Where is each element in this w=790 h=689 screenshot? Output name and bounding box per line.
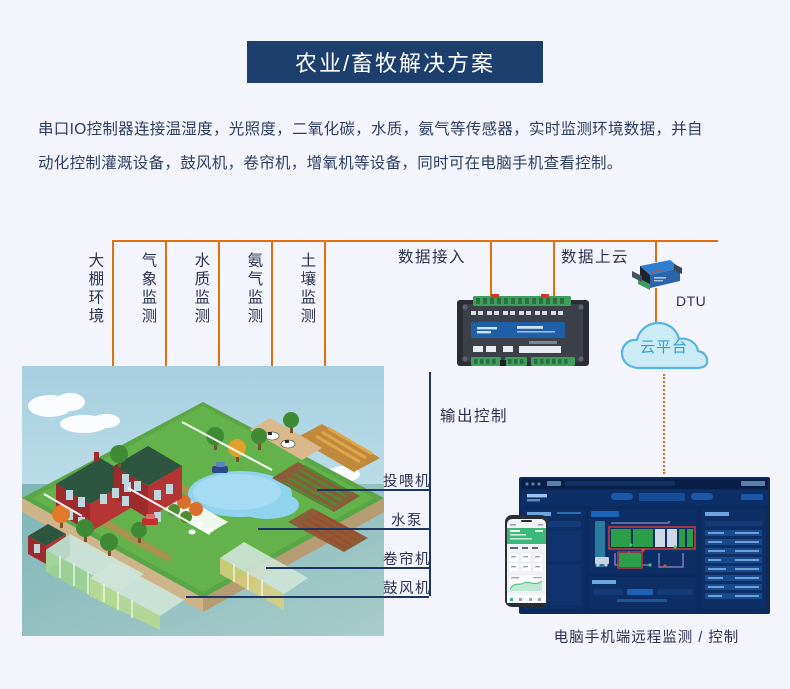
sensor-label-ammonia: 氨气监测: [245, 252, 262, 326]
output-label-roller-blind: 卷帘机: [383, 548, 431, 569]
page-title: 农业/畜牧解决方案: [295, 46, 495, 78]
sensor-label-soil: 土壤监测: [298, 252, 315, 326]
bus-drop-controller-left: [490, 240, 492, 297]
dtu-label: DTU: [676, 293, 706, 309]
dtu-device: [630, 258, 684, 294]
cloud-platform-label: 云平台: [618, 336, 710, 357]
monitor-caption: 电脑手机端远程监测 / 控制: [519, 626, 774, 647]
output-label-water-pump: 水泵: [391, 509, 423, 530]
label-data-to-cloud: 数据上云: [561, 245, 629, 267]
desktop-dashboard: [519, 477, 770, 614]
label-output-control: 输出控制: [440, 404, 508, 426]
page-title-banner: 农业/畜牧解决方案: [247, 41, 543, 83]
sensor-label-greenhouse: 大棚环境: [86, 252, 103, 326]
output-label-feeder: 投喂机: [383, 470, 431, 491]
sensor-label-weather: 气象监测: [139, 252, 156, 326]
description-line-1: 串口IO控制器连接温湿度，光照度，二氧化碳，水质，氨气等传感器，实时监测环境数据…: [38, 113, 756, 147]
description-block: 串口IO控制器连接温湿度，光照度，二氧化碳，水质，氨气等传感器，实时监测环境数据…: [38, 113, 756, 181]
bus-drop-controller-right: [553, 240, 555, 297]
mobile-app-mockup: [505, 515, 548, 607]
output-label-blower: 鼓风机: [383, 577, 431, 598]
output-trunk-line: [429, 430, 431, 596]
sensor-label-water-quality: 水质监测: [192, 252, 209, 326]
description-line-2: 动化控制灌溉设备，鼓风机，卷帘机，增氧机等设备，同时可在电脑手机查看控制。: [38, 147, 756, 181]
label-data-input: 数据接入: [398, 245, 466, 267]
io-controller-device: [453, 294, 593, 372]
data-bus-horizontal: [112, 240, 718, 242]
cloud-to-monitor-line: [663, 374, 665, 474]
output-control-vertical-line: [429, 372, 431, 430]
